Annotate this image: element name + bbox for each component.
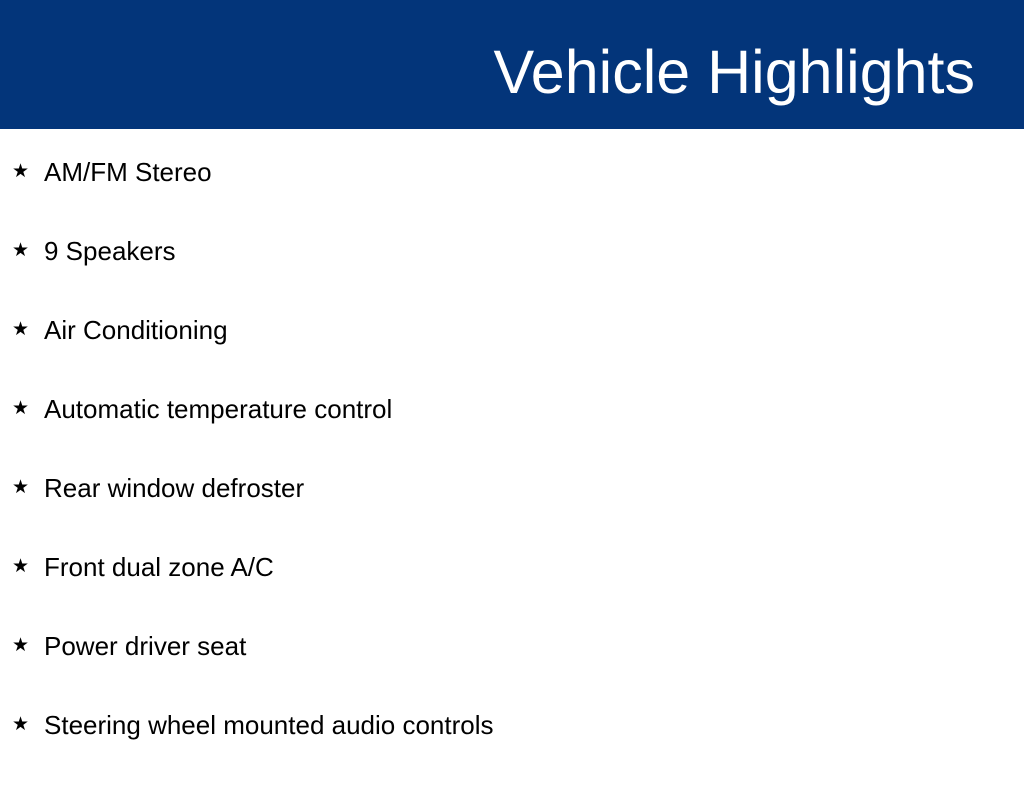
star-icon: ★ bbox=[12, 711, 29, 739]
star-icon: ★ bbox=[12, 237, 29, 265]
header-banner: Vehicle Highlights bbox=[0, 0, 1024, 129]
list-item-label: Steering wheel mounted audio controls bbox=[44, 711, 1024, 739]
star-icon: ★ bbox=[12, 395, 29, 423]
list-item-label: Rear window defroster bbox=[44, 474, 1024, 502]
list-item: ★ Rear window defroster bbox=[0, 474, 1024, 553]
list-item: ★ Front dual zone A/C bbox=[0, 553, 1024, 632]
star-icon: ★ bbox=[12, 158, 29, 186]
page-title: Vehicle Highlights bbox=[493, 42, 975, 103]
list-item: ★ Automatic temperature control bbox=[0, 395, 1024, 474]
list-item-label: Automatic temperature control bbox=[44, 395, 1024, 423]
star-icon: ★ bbox=[12, 632, 29, 660]
list-item: ★ Steering wheel mounted audio controls bbox=[0, 711, 1024, 790]
list-item: ★ 9 Speakers bbox=[0, 237, 1024, 316]
list-item: ★ Power driver seat bbox=[0, 632, 1024, 711]
star-icon: ★ bbox=[12, 316, 29, 344]
list-item-label: Air Conditioning bbox=[44, 316, 1024, 344]
list-item-label: AM/FM Stereo bbox=[44, 158, 1024, 186]
list-item: ★ AM/FM Stereo bbox=[0, 158, 1024, 237]
star-icon: ★ bbox=[12, 474, 29, 502]
vehicle-highlights-slide: { "header": { "title": "Vehicle Highligh… bbox=[0, 0, 1024, 768]
list-item-label: 9 Speakers bbox=[44, 237, 1024, 265]
list-item-label: Front dual zone A/C bbox=[44, 553, 1024, 581]
list-item: ★ Air Conditioning bbox=[0, 316, 1024, 395]
vehicle-highlights-list: ★ AM/FM Stereo ★ 9 Speakers ★ Air Condit… bbox=[0, 129, 1024, 768]
list-item-label: Power driver seat bbox=[44, 632, 1024, 660]
star-icon: ★ bbox=[12, 553, 29, 581]
